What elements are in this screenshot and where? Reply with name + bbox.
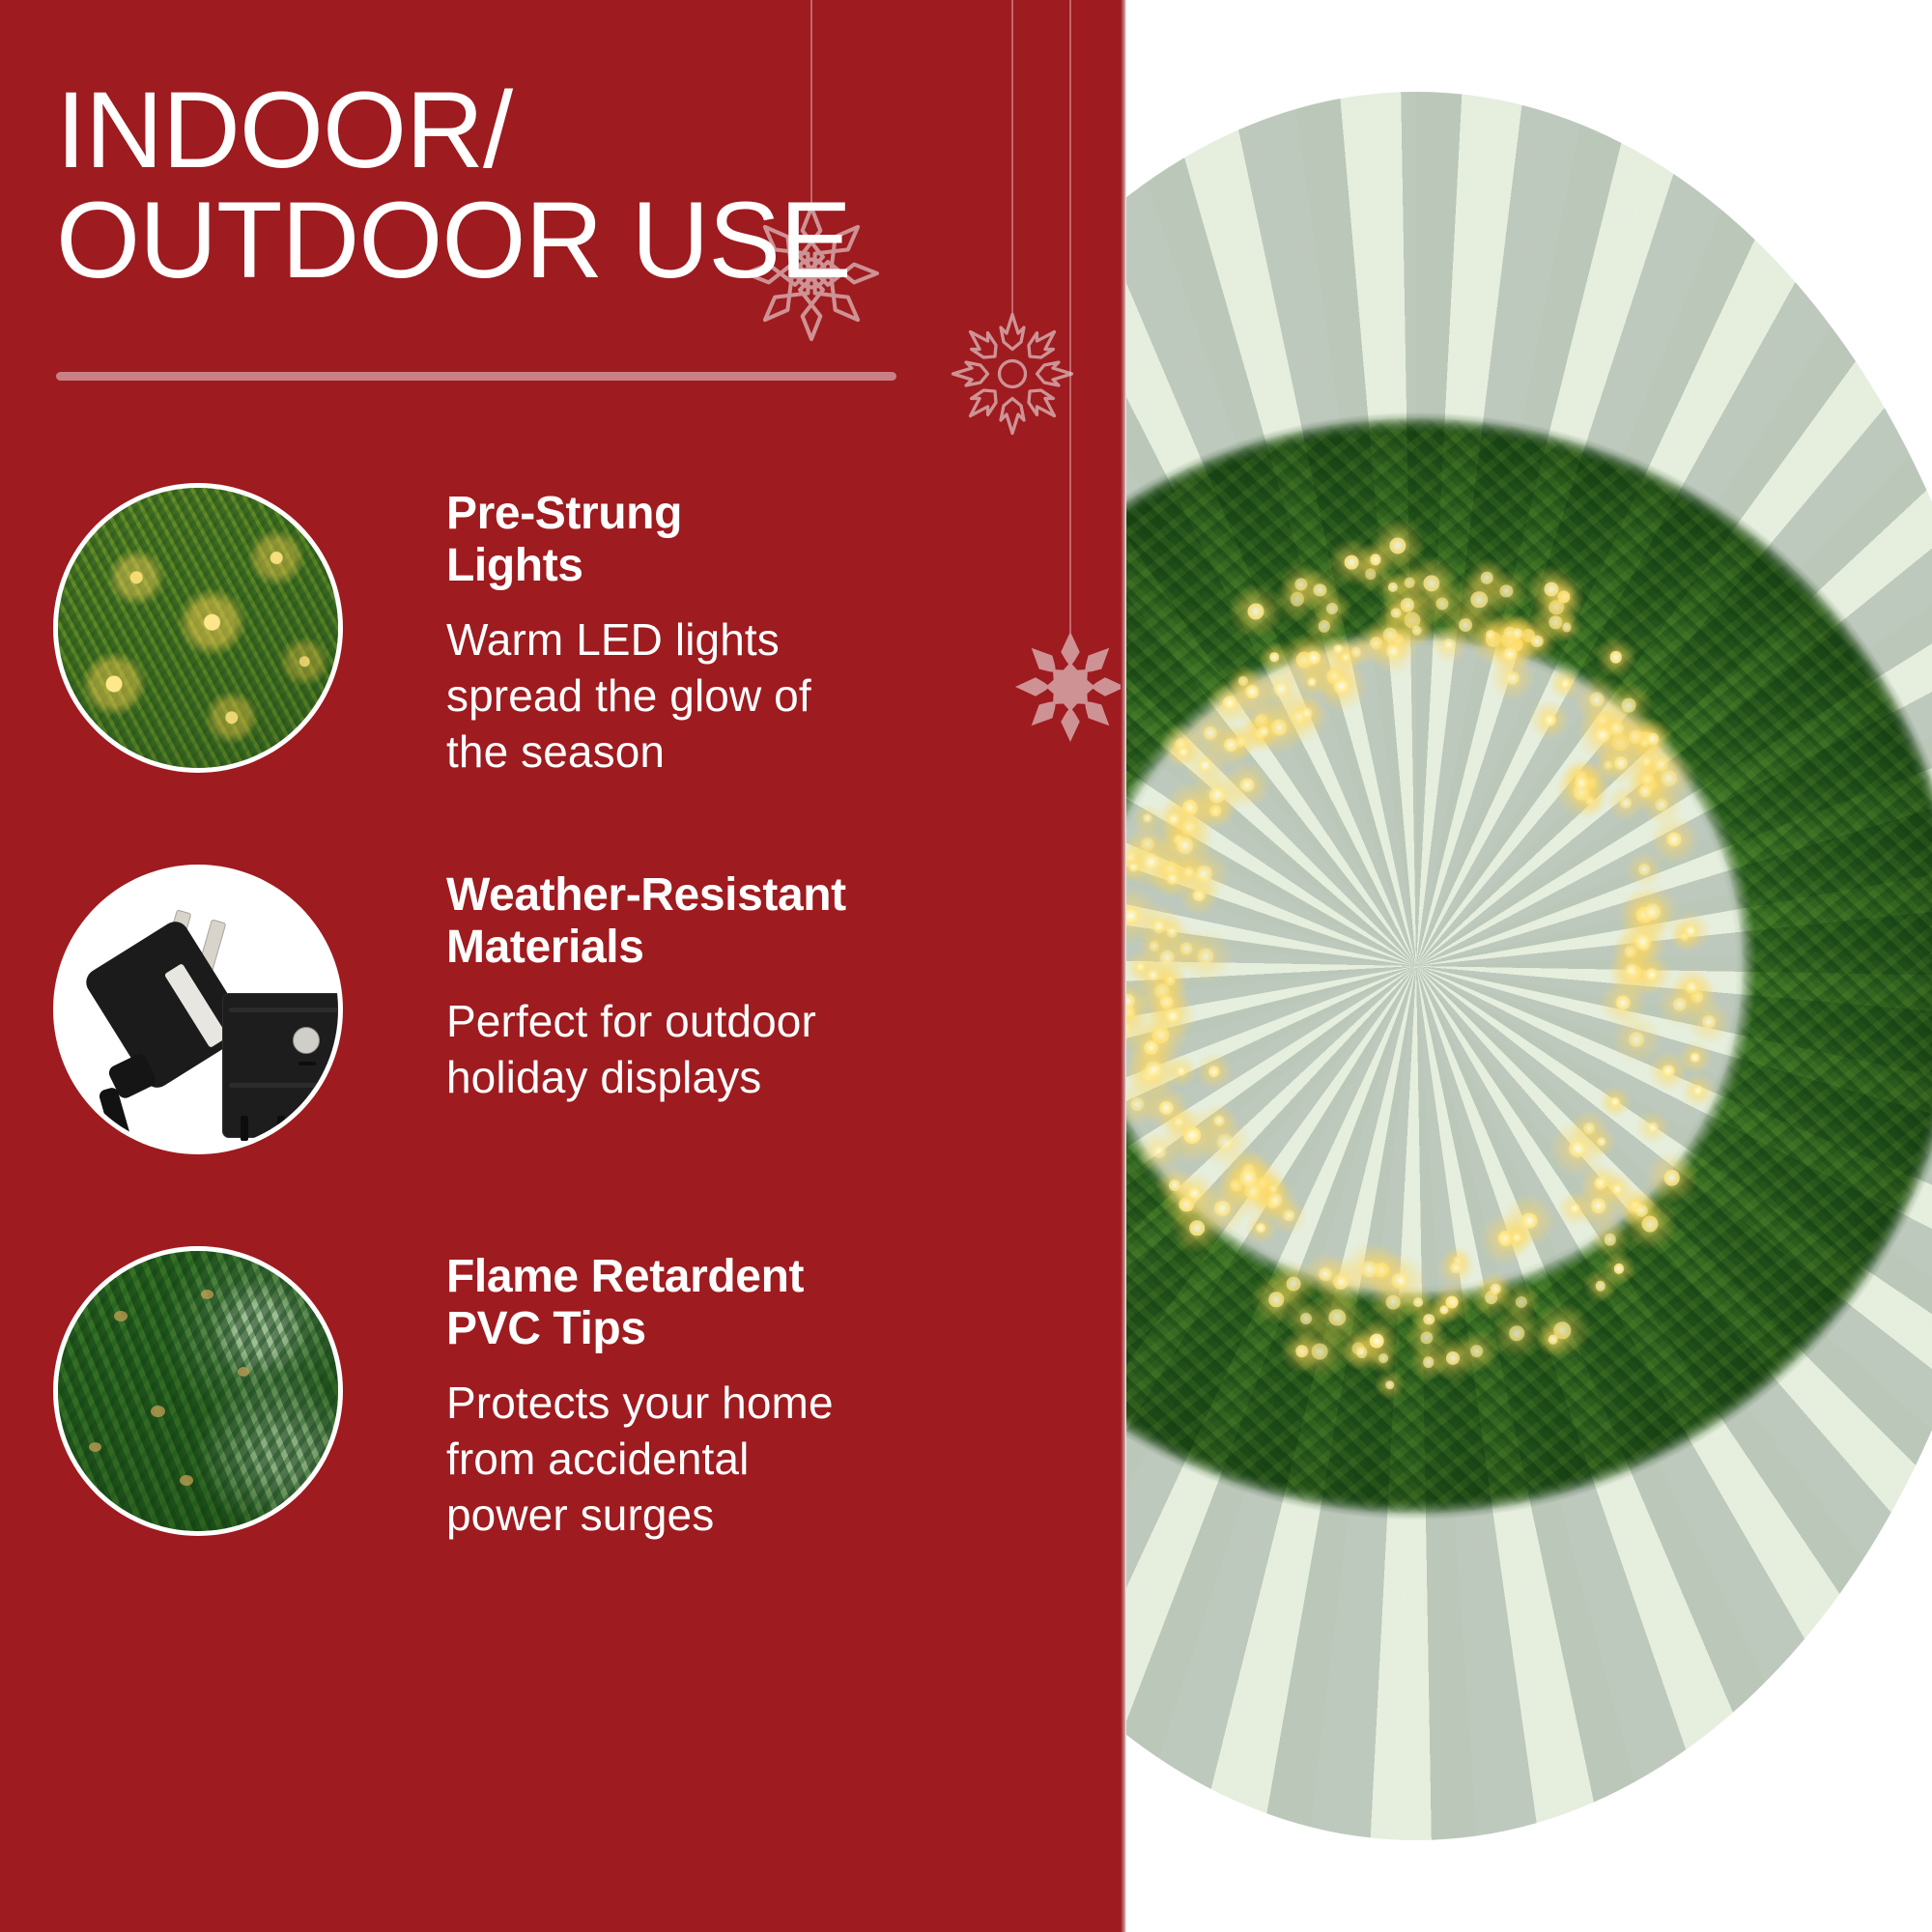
timer-cord-slot bbox=[277, 1116, 285, 1141]
timer-cord-slot bbox=[241, 1116, 248, 1141]
feature-list: Pre-Strung Lights Warm LED lights spread… bbox=[0, 488, 1126, 1633]
wreath-led-bulb bbox=[1126, 1023, 1130, 1036]
wreath-led-bulb bbox=[1491, 1284, 1501, 1294]
wreath-led-bulb bbox=[1361, 1261, 1378, 1277]
wreath-led-bulb bbox=[1638, 865, 1650, 876]
feature-image-weather-resistant bbox=[58, 869, 338, 1150]
wreath-led-bulb bbox=[1257, 1223, 1266, 1233]
wreath-led-bulb bbox=[1311, 1344, 1327, 1360]
wreath-led-bulb bbox=[1126, 907, 1139, 924]
wreath-led-bulb bbox=[1481, 572, 1493, 584]
wreath-led-bulb bbox=[1450, 1263, 1462, 1274]
wreath-led-bulb bbox=[1690, 1052, 1700, 1063]
wreath-led-bulb bbox=[1146, 1062, 1162, 1078]
feature-text-block: Weather-Resistant Materials Perfect for … bbox=[446, 869, 1074, 1105]
wreath-led-bulb bbox=[1385, 1380, 1395, 1390]
wreath-led-bulb bbox=[1302, 708, 1313, 719]
wreath-led-bulb bbox=[1622, 698, 1636, 713]
timer-box-band bbox=[229, 1008, 338, 1012]
wreath-led-bulb bbox=[1131, 1098, 1145, 1112]
infographic-canvas: INDOOR/ OUTDOOR USE Pre-Strung Lights Wa… bbox=[0, 0, 1932, 1932]
wreath-led-bulb bbox=[1615, 995, 1630, 1009]
wreath-led-bulb bbox=[1188, 1186, 1202, 1200]
wreath-led-bulb bbox=[1667, 833, 1682, 847]
wreath-led-bulb bbox=[1239, 1169, 1257, 1186]
lights-on-greenery-photo bbox=[58, 488, 338, 768]
green-pvc-tips-photo bbox=[58, 1251, 338, 1531]
feature-title: Pre-Strung Lights bbox=[446, 488, 1074, 592]
wreath-led-bulb bbox=[1269, 652, 1279, 662]
wreath-led-bulb bbox=[1420, 1331, 1433, 1344]
wreath-led-bulb bbox=[1299, 1313, 1311, 1324]
wreath-led-bulb bbox=[1329, 1310, 1346, 1326]
wreath-led-bulb bbox=[1386, 1295, 1401, 1310]
feature-image-pre-strung-lights bbox=[58, 488, 338, 768]
pvc-tip-accent bbox=[114, 1311, 128, 1321]
wreath-led-bulb bbox=[1645, 968, 1658, 980]
wreath-led-bulb bbox=[1223, 696, 1237, 710]
wreath-led-bulb bbox=[1560, 679, 1570, 689]
wreath-led-bulb bbox=[1159, 1100, 1173, 1114]
wreath-led-bulb bbox=[1269, 1194, 1283, 1207]
pvc-tip-accent bbox=[89, 1442, 101, 1452]
feature-title: Flame Retardent PVC Tips bbox=[446, 1251, 1074, 1355]
wreath-led-bulb bbox=[1684, 924, 1696, 937]
wreath-led-bulb bbox=[1562, 623, 1571, 632]
wreath-led-bulb bbox=[1439, 1305, 1448, 1314]
wreath-led-bulb bbox=[1702, 1015, 1716, 1029]
headline-divider-rule bbox=[56, 372, 896, 381]
wreath-led-bulb bbox=[1378, 1353, 1388, 1363]
wreath-led-bulb bbox=[1597, 1137, 1605, 1146]
plug-and-timer-photo bbox=[58, 869, 338, 1150]
wreath-led-bulb bbox=[1673, 997, 1688, 1011]
wreath-led-bulb bbox=[1614, 1264, 1624, 1273]
wreath-led-bulb bbox=[1176, 1065, 1185, 1075]
wreath-led-bulb bbox=[1604, 1234, 1615, 1245]
feature-row: Pre-Strung Lights Warm LED lights spread… bbox=[0, 488, 1126, 869]
wreath-led-bulb bbox=[1629, 1032, 1644, 1047]
wreath-led-bulb bbox=[1647, 1122, 1658, 1133]
wreath-led-bulb bbox=[1647, 733, 1660, 746]
wreath-led-bulb bbox=[1166, 1009, 1180, 1023]
wreath-led-bulb bbox=[1179, 747, 1188, 756]
feature-body: Perfect for outdoor holiday displays bbox=[446, 993, 1074, 1106]
wreath-led-bulb bbox=[1595, 727, 1610, 743]
wreath-led-bulb bbox=[1391, 608, 1402, 618]
wreath-led-bulb bbox=[1470, 1345, 1484, 1358]
wreath-led-bulb bbox=[1569, 1204, 1579, 1214]
pvc-tip-accent bbox=[201, 1290, 213, 1299]
wreath-led-bulb bbox=[1259, 726, 1269, 737]
wreath-led-bulb bbox=[1386, 644, 1401, 659]
page-title: INDOOR/ OUTDOOR USE bbox=[56, 75, 1061, 296]
wreath-led-bulb bbox=[1570, 1140, 1587, 1157]
wreath-foliage-texture bbox=[1126, 92, 1932, 1840]
wreath-led-bulb bbox=[1240, 778, 1255, 792]
wreath-led-bulb bbox=[1423, 575, 1439, 591]
page-headline-wrap: INDOOR/ OUTDOOR USE bbox=[56, 75, 1061, 296]
wreath-led-bulb bbox=[1345, 555, 1359, 570]
wreath-led-bulb bbox=[1196, 866, 1211, 881]
wreath-led-bulb bbox=[1160, 950, 1175, 964]
wreath-led-bulb bbox=[1214, 1201, 1230, 1216]
wreath-led-bulb bbox=[1662, 1065, 1675, 1077]
timer-button bbox=[293, 1027, 320, 1054]
wreath-led-bulb bbox=[1692, 1086, 1703, 1096]
product-photo-stage bbox=[1126, 0, 1932, 1932]
red-info-panel: INDOOR/ OUTDOOR USE Pre-Strung Lights Wa… bbox=[0, 0, 1126, 1932]
wreath-led-bulb bbox=[1614, 756, 1628, 770]
wreath-led-bulb bbox=[1356, 1347, 1368, 1358]
timer-box-band bbox=[229, 1083, 338, 1088]
wreath-led-bulb bbox=[1319, 1267, 1332, 1281]
feature-body: Warm LED lights spread the glow of the s… bbox=[446, 611, 1074, 781]
wreath-led-bulb bbox=[1521, 1212, 1538, 1229]
wreath-led-bulb bbox=[1610, 1097, 1620, 1107]
wreath-led-bulb bbox=[1287, 1277, 1301, 1292]
wreath-led-bulb bbox=[1515, 1296, 1526, 1308]
pvc-tip-accent bbox=[238, 1367, 249, 1377]
feature-text-block: Pre-Strung Lights Warm LED lights spread… bbox=[446, 488, 1074, 781]
wreath-led-bulb bbox=[1644, 903, 1661, 920]
feature-title: Weather-Resistant Materials bbox=[446, 869, 1074, 974]
feature-image-pvc-tips bbox=[58, 1251, 338, 1531]
wreath-led-bulb bbox=[1548, 1334, 1558, 1345]
wreath-led-bulb bbox=[1544, 582, 1558, 596]
wreath-led-bulb bbox=[1126, 994, 1135, 1008]
feature-row: Flame Retardent PVC Tips Protects your h… bbox=[0, 1251, 1126, 1633]
pvc-tip-accent bbox=[151, 1406, 165, 1417]
wreath-led-bulb bbox=[1595, 1281, 1605, 1291]
wreath-led-bulb bbox=[1661, 770, 1677, 786]
wreath-led-bulb bbox=[1224, 738, 1237, 752]
wreath-led-bulb bbox=[1208, 786, 1225, 803]
wreath-led-bulb bbox=[1513, 628, 1523, 639]
wreath-led-bulb bbox=[1663, 1170, 1680, 1186]
wreath-led-bulb bbox=[1590, 693, 1605, 707]
wreath-led-bulb bbox=[1635, 1205, 1648, 1217]
timer-control-box bbox=[222, 993, 338, 1138]
feature-text-block: Flame Retardent PVC Tips Protects your h… bbox=[446, 1251, 1074, 1544]
wreath-led-bulb bbox=[1143, 813, 1151, 822]
wreath-led-bulb bbox=[1575, 777, 1588, 790]
wreath-led-bulb bbox=[1609, 651, 1621, 663]
timer-led-slot bbox=[298, 1062, 316, 1065]
wreath-led-bulb bbox=[1544, 714, 1556, 726]
wreath-led-bulb bbox=[1152, 1145, 1166, 1158]
wreath-led-bulb bbox=[1326, 603, 1338, 614]
lit-christmas-wreath-photo bbox=[1126, 92, 1932, 1840]
wreath-led-bulb bbox=[1208, 1065, 1220, 1077]
feature-body: Protects your home from accidental power… bbox=[446, 1375, 1074, 1544]
wreath-led-bulb bbox=[1510, 1326, 1525, 1342]
pvc-tip-accent bbox=[180, 1475, 193, 1486]
wreath-led-bulb bbox=[1129, 863, 1138, 871]
wreath-led-bulb bbox=[1334, 678, 1350, 694]
wreath-led-bulb bbox=[1247, 603, 1264, 619]
wreath-led-bulb bbox=[1334, 644, 1343, 653]
feature-row: Weather-Resistant Materials Perfect for … bbox=[0, 869, 1126, 1251]
